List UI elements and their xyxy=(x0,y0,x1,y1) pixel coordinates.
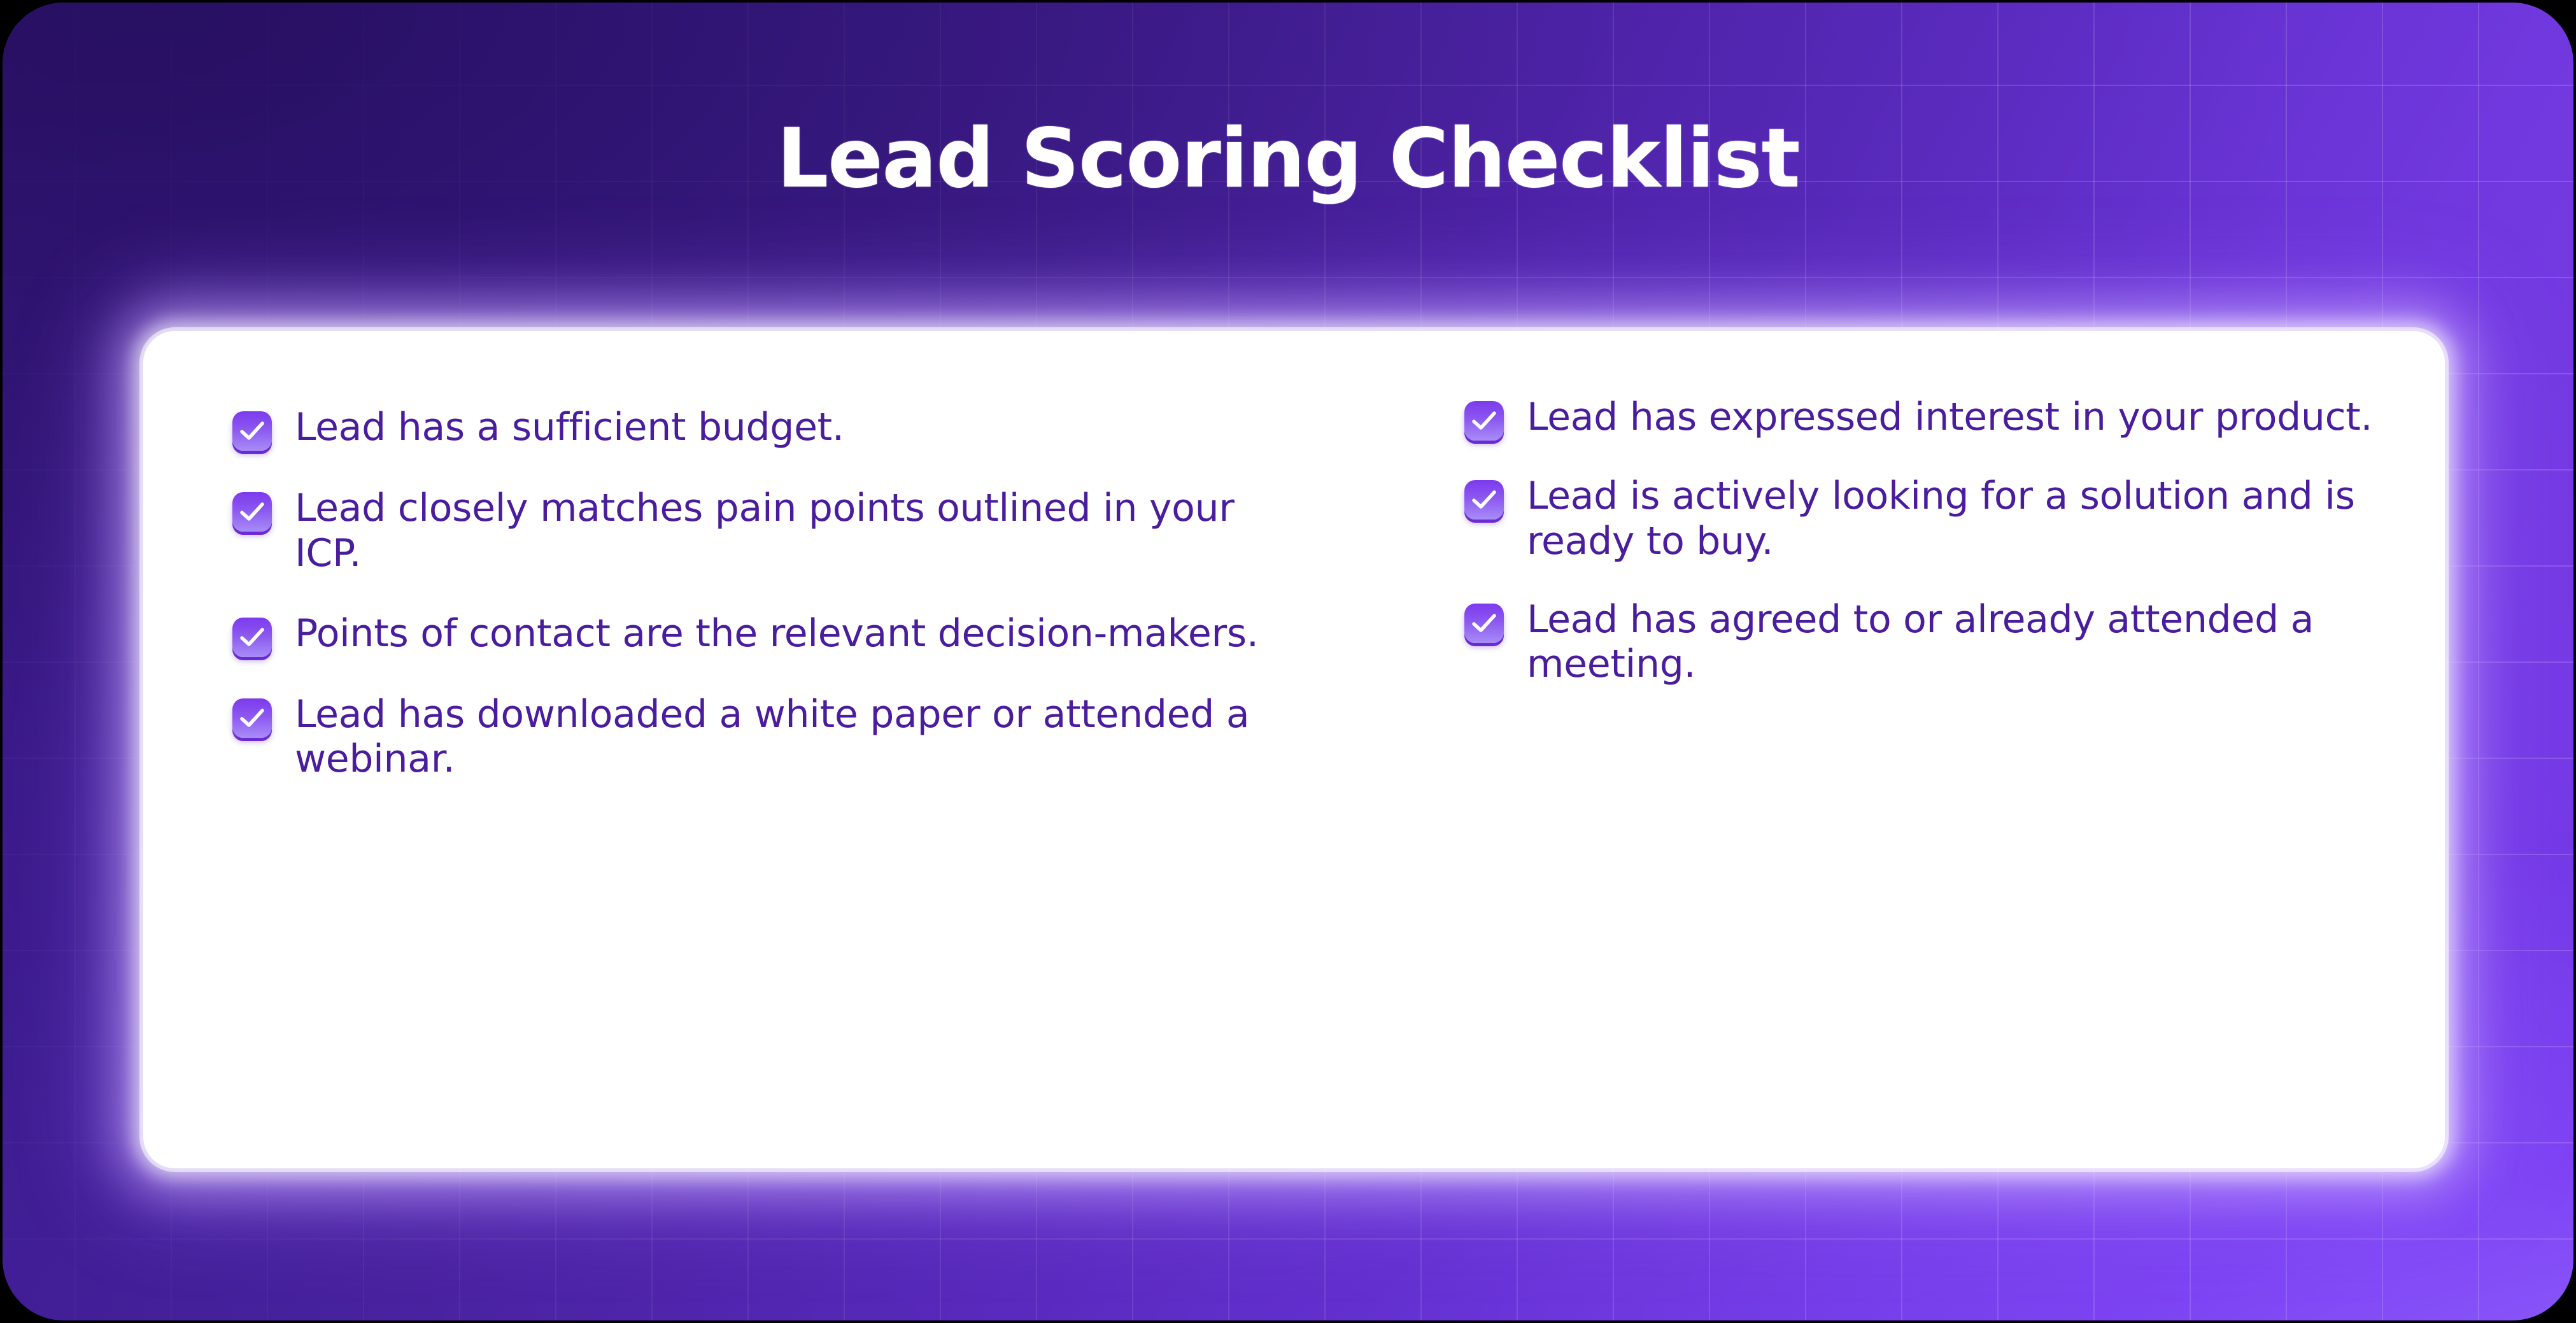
checklist-columns: Lead has a sufficient budget. Lead close… xyxy=(143,331,2445,1168)
left-column: Lead has a sufficient budget. Lead close… xyxy=(143,331,1356,1168)
list-item[interactable]: Lead closely matches pain points outline… xyxy=(232,486,1356,576)
checklist-card: Lead has a sufficient budget. Lead close… xyxy=(143,331,2445,1168)
checkmark-icon[interactable] xyxy=(232,618,272,657)
list-item-label: Lead closely matches pain points outline… xyxy=(295,486,1288,576)
list-item-label: Lead has downloaded a white paper or att… xyxy=(295,692,1288,782)
checkmark-icon[interactable] xyxy=(1464,604,1504,643)
checklist-graphic: Lead Scoring Checklist Lead has a suffic… xyxy=(0,0,2576,1323)
list-item-label: Lead has expressed interest in your prod… xyxy=(1527,395,2372,440)
list-item-label: Lead is actively looking for a solution … xyxy=(1527,474,2405,564)
right-column: Lead has expressed interest in your prod… xyxy=(1356,331,2445,1168)
page-title: Lead Scoring Checklist xyxy=(0,118,2576,200)
checkmark-icon[interactable] xyxy=(232,411,272,451)
list-item[interactable]: Lead has expressed interest in your prod… xyxy=(1464,395,2445,441)
list-item[interactable]: Lead has agreed to or already attended a… xyxy=(1464,597,2445,688)
list-item[interactable]: Lead has downloaded a white paper or att… xyxy=(232,692,1356,782)
list-item[interactable]: Lead has a sufficient budget. xyxy=(232,405,1356,451)
list-item-label: Points of contact are the relevant decis… xyxy=(295,611,1259,656)
checkmark-icon[interactable] xyxy=(1464,401,1504,441)
checkmark-icon[interactable] xyxy=(232,492,272,532)
checkmark-icon[interactable] xyxy=(1464,480,1504,520)
list-item-label: Lead has agreed to or already attended a… xyxy=(1527,597,2405,688)
list-item[interactable]: Points of contact are the relevant decis… xyxy=(232,611,1356,657)
list-item[interactable]: Lead is actively looking for a solution … xyxy=(1464,474,2445,564)
list-item-label: Lead has a sufficient budget. xyxy=(295,405,844,450)
checkmark-icon[interactable] xyxy=(232,698,272,738)
